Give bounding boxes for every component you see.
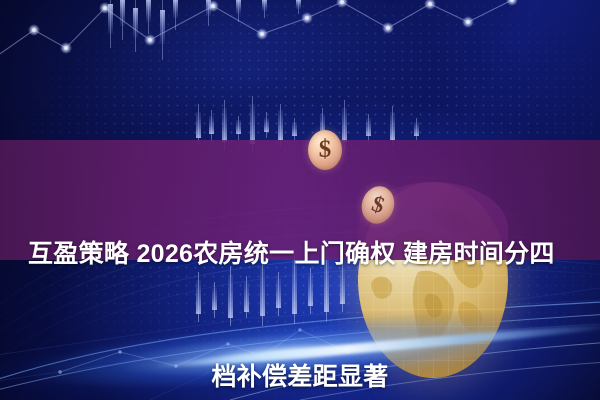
title-line-2: 档补偿差距显著: [26, 357, 574, 398]
network-line-chart: [0, 0, 518, 64]
news-banner: $ $ 互盈策略 2026农房统一上门确权 建房时间分四 档补偿差距显著: [0, 0, 600, 400]
page-title: 互盈策略 2026农房统一上门确权 建房时间分四 档补偿差距显著: [0, 152, 600, 400]
title-line-1: 互盈策略 2026农房统一上门确权 建房时间分四: [26, 234, 574, 275]
